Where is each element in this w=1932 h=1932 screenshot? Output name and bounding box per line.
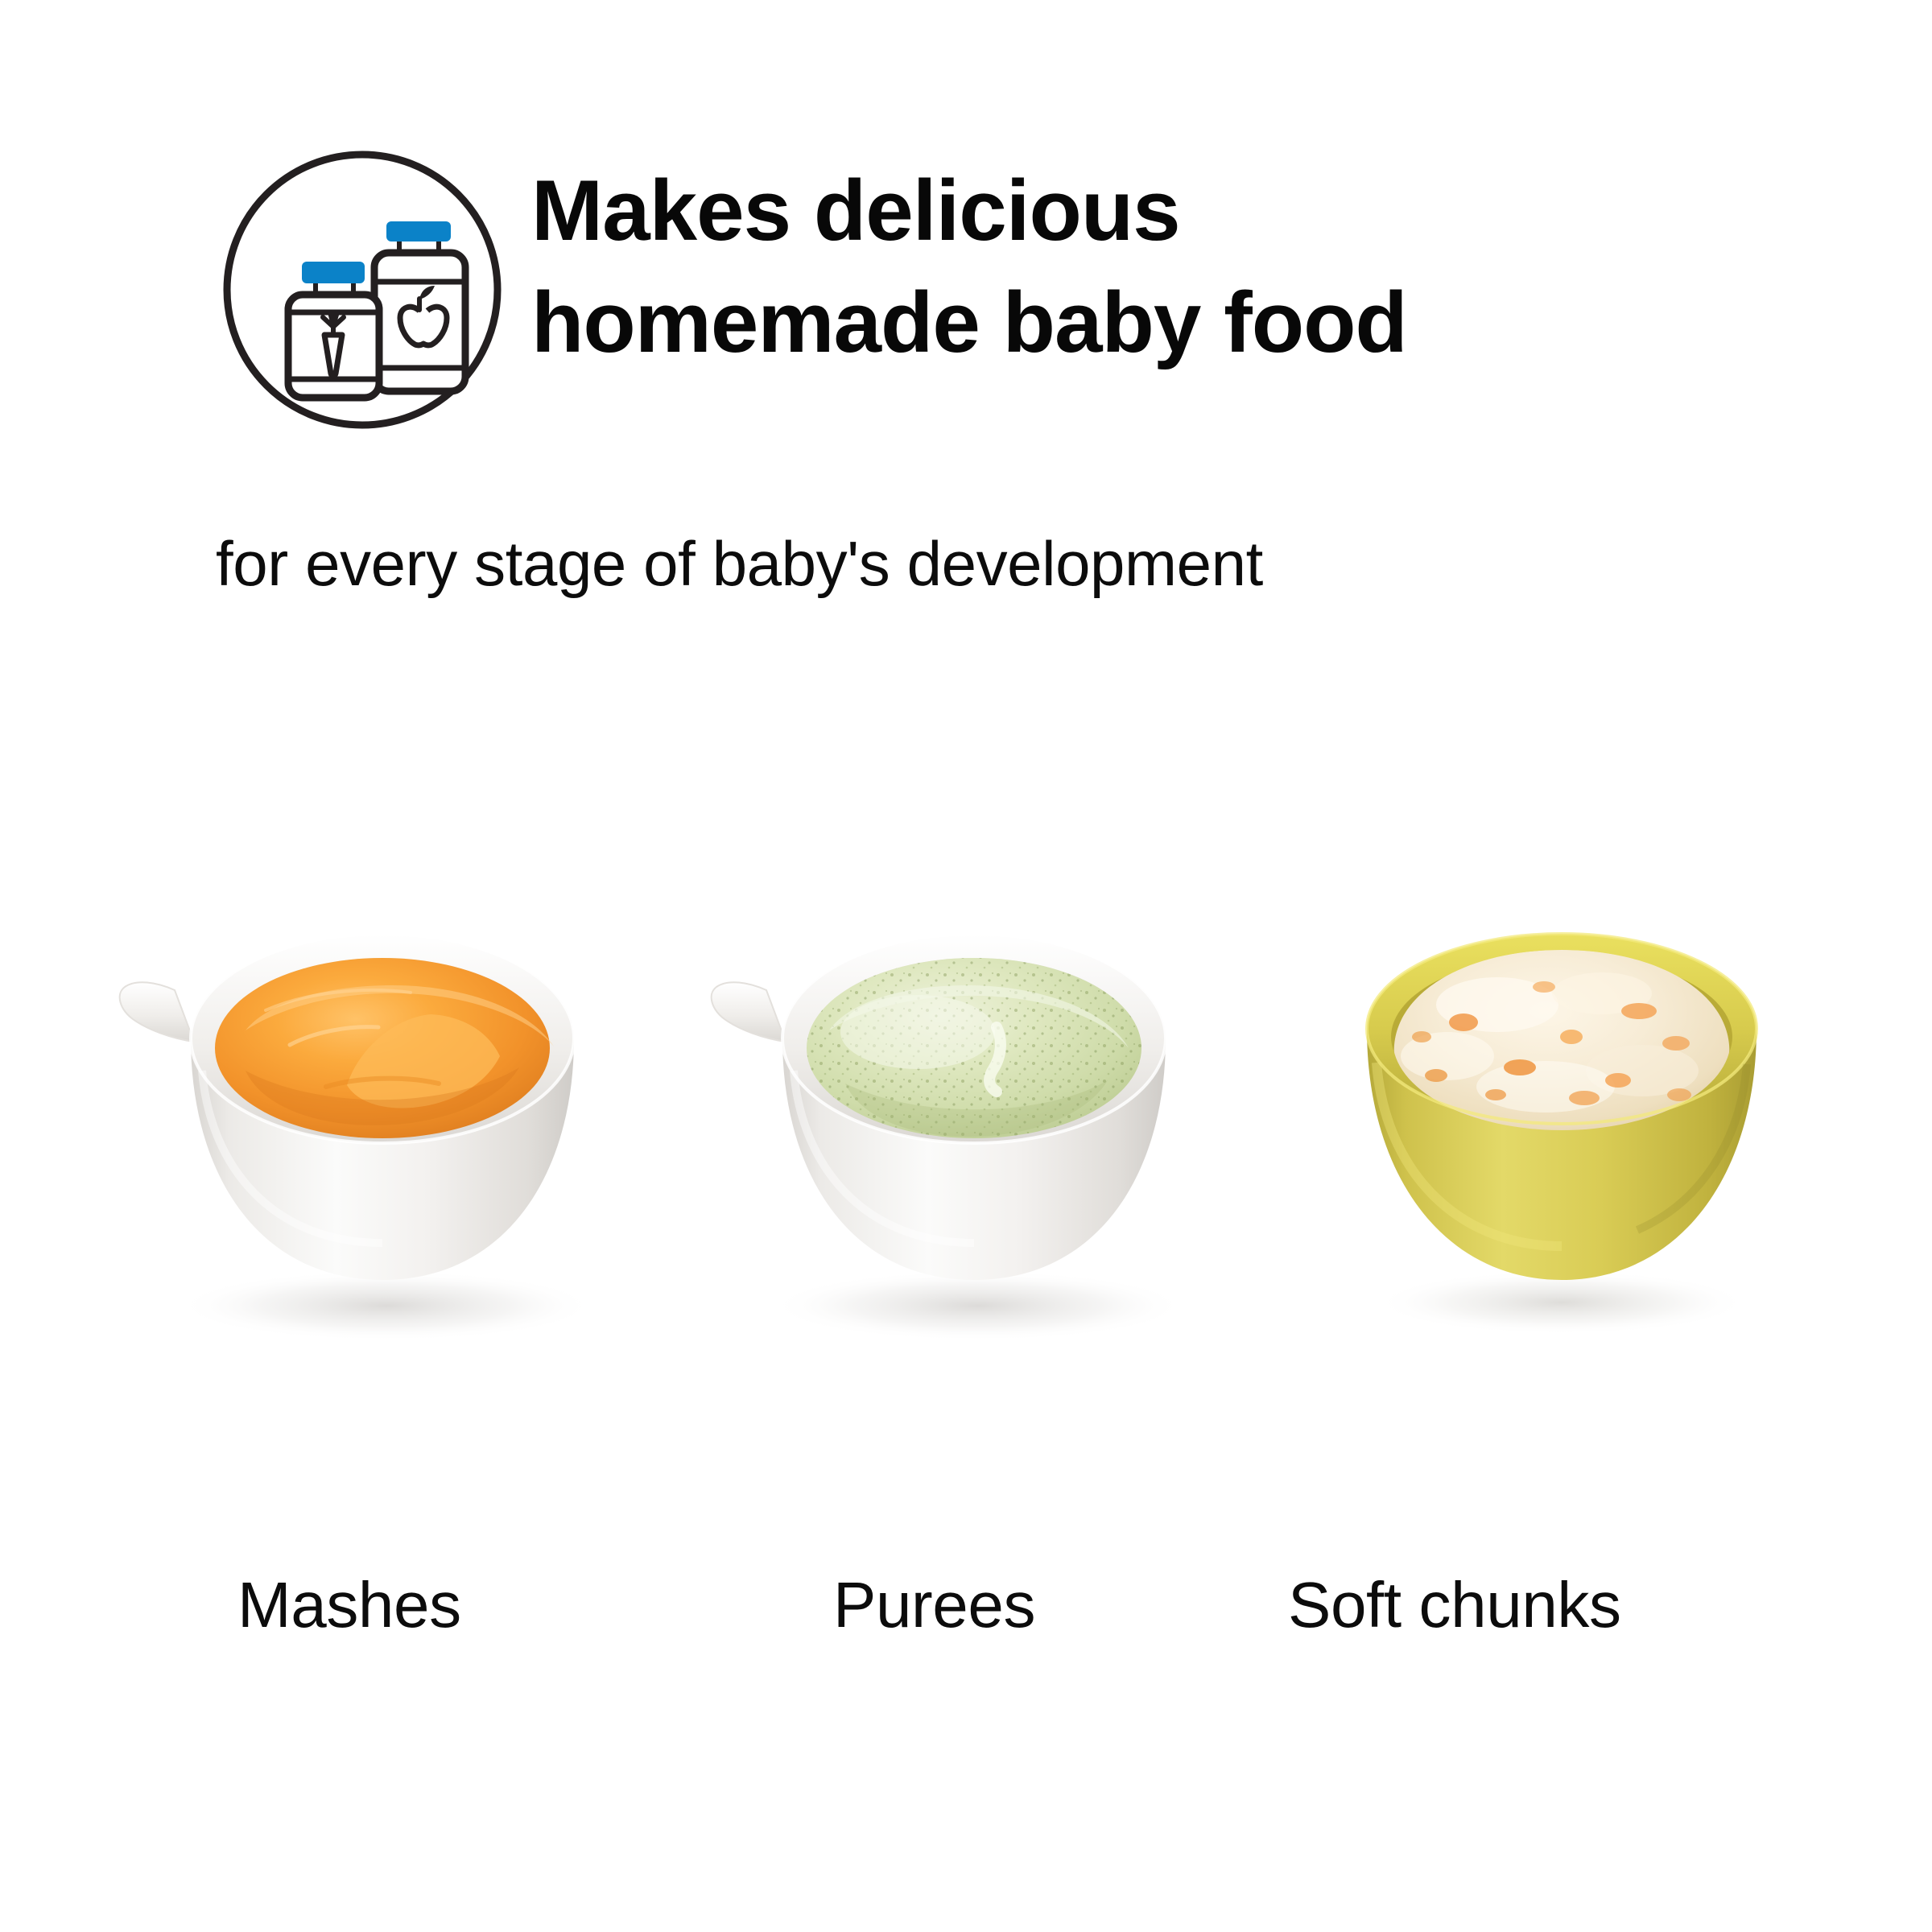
bowl-card-soft-chunks xyxy=(1264,829,1860,1377)
bowl-card-purees xyxy=(676,829,1272,1377)
large-jar-lid-icon xyxy=(386,221,451,242)
product-labels-row: Mashes Purees Soft chunks xyxy=(0,1562,1932,1690)
page-title: Makes delicious homemade baby food xyxy=(531,155,1407,378)
bowl-spout xyxy=(120,982,194,1042)
bowl-label-purees: Purees xyxy=(833,1562,1035,1649)
bowl-spout xyxy=(712,982,786,1042)
bowl-shadow xyxy=(177,1270,596,1341)
header-block: Makes delicious homemade baby food xyxy=(217,145,1747,435)
baby-food-jars-in-circle-icon xyxy=(217,145,507,435)
white-ceramic-bowl-with-spout xyxy=(85,829,680,1377)
green-vegetable-puree xyxy=(807,958,1141,1138)
yellow-ceramic-bowl xyxy=(1264,829,1860,1377)
white-ceramic-bowl-with-spout xyxy=(676,829,1272,1377)
bowl-shadow xyxy=(770,1270,1186,1341)
bowl-card-mashes xyxy=(85,829,680,1377)
bowl-label-soft-chunks: Soft chunks xyxy=(1288,1562,1621,1649)
page-root: Makes delicious homemade baby food for e… xyxy=(0,0,1932,1932)
small-jar-lid-icon xyxy=(302,262,365,283)
product-bowls-row xyxy=(0,829,1932,1377)
page-subtitle: for every stage of baby's development xyxy=(216,526,1263,602)
bowl-label-mashes: Mashes xyxy=(237,1562,461,1649)
